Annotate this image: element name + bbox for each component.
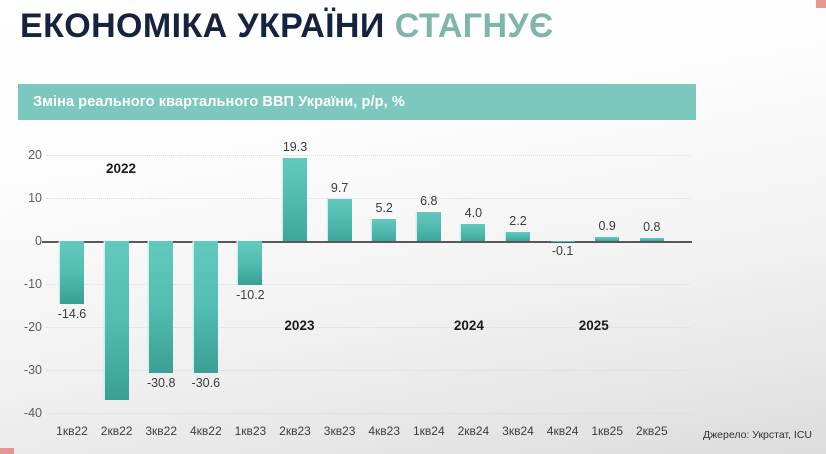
corner-accent-decoration	[0, 448, 14, 454]
bar-value-label: 2.2	[492, 214, 544, 228]
y-axis-tick-label: -10	[2, 277, 42, 291]
bar-value-label: 19.3	[269, 140, 321, 154]
gridline	[46, 284, 690, 286]
bar	[461, 224, 485, 241]
bar	[417, 212, 441, 241]
year-group-label: 2024	[439, 318, 499, 333]
year-group-label: 2023	[269, 318, 329, 333]
bar	[595, 237, 619, 241]
bar-value-label: -30.6	[180, 376, 232, 390]
y-axis-tick-label: 10	[2, 191, 42, 205]
y-axis-tick-label: -30	[2, 363, 42, 377]
page-title-accent: СТАГНУЄ	[395, 7, 554, 45]
bar	[60, 241, 84, 304]
page-title: ЕКОНОМІКА УКРАЇНИСТАГНУЄ	[20, 2, 554, 50]
plot-area: -14.6-30.8-30.6-10.219.39.75.26.84.02.2-…	[46, 132, 690, 432]
bar-value-label: -0.1	[537, 244, 589, 258]
bar	[551, 241, 575, 242]
bar-value-label: 0.8	[626, 220, 678, 234]
y-axis-tick-label: -20	[2, 320, 42, 334]
chart-subtitle-text: Зміна реального квартального ВВП України…	[18, 94, 405, 110]
year-group-label: 2022	[91, 161, 151, 176]
corner-accent-right-decoration	[816, 0, 826, 8]
bar	[238, 241, 262, 285]
bar	[328, 199, 352, 241]
gridline	[46, 155, 690, 157]
x-axis-tick-label: 2кв25	[624, 424, 680, 438]
gridline	[46, 370, 690, 372]
bar	[283, 158, 307, 241]
y-axis: 20100-10-20-30-40	[0, 132, 42, 432]
bar	[372, 219, 396, 241]
y-axis-tick-label: 20	[2, 148, 42, 162]
bar-value-label: -10.2	[224, 288, 276, 302]
bar	[506, 232, 530, 241]
gridline	[46, 413, 690, 415]
bar	[194, 241, 218, 373]
year-group-label: 2025	[564, 318, 624, 333]
y-axis-tick-label: 0	[2, 234, 42, 248]
bar	[640, 238, 664, 241]
page-title-main: ЕКОНОМІКА УКРАЇНИ	[20, 7, 385, 45]
bar-value-label: 9.7	[314, 181, 366, 195]
source-note: Джерело: Укрстат, ICU	[703, 429, 812, 441]
chart-subtitle-band: Зміна реального квартального ВВП України…	[18, 84, 696, 120]
zero-axis-line	[42, 241, 692, 243]
gdp-bar-chart: 20100-10-20-30-40 -14.6-30.8-30.6-10.219…	[0, 132, 826, 454]
bar	[149, 241, 173, 373]
bar	[105, 241, 129, 400]
bar-value-label: -14.6	[46, 307, 98, 321]
y-axis-tick-label: -40	[2, 406, 42, 420]
